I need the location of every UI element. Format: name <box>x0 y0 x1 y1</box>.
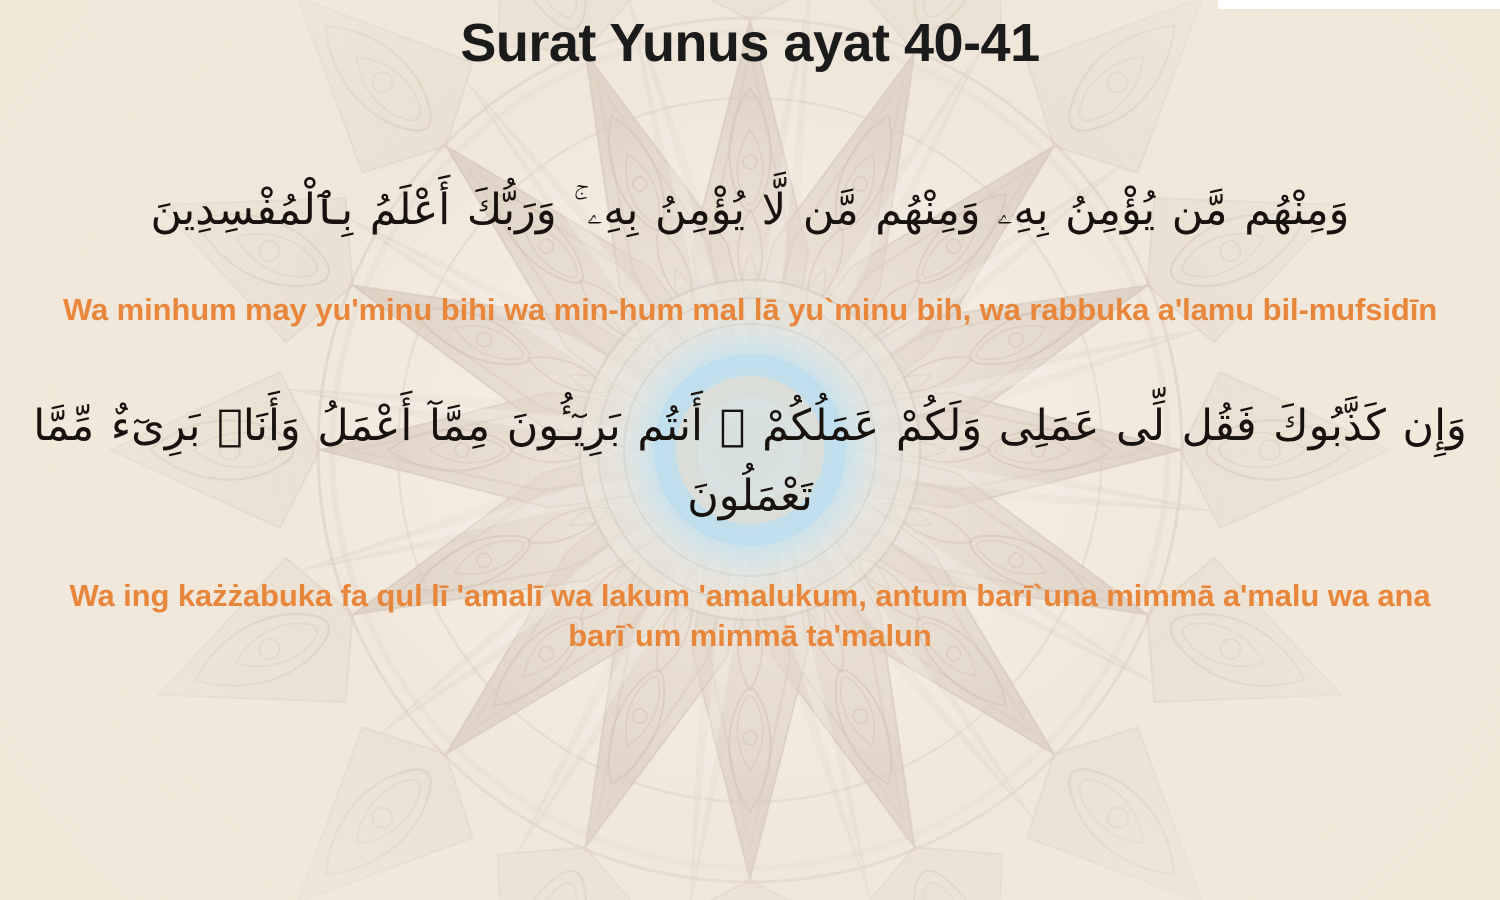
verse-content: Surat Yunus ayat 40-41 وَمِنْهُم مَّن يُ… <box>0 0 1500 900</box>
page-title: Surat Yunus ayat 40-41 <box>8 0 1492 72</box>
verse-block-41: وَإِن كَذَّبُوكَ فَقُل لِّى عَمَلِى وَلَ… <box>8 392 1492 656</box>
arabic-text-ayat-41: وَإِن كَذَّبُوكَ فَقُل لِّى عَمَلِى وَلَ… <box>8 392 1492 531</box>
quran-verse-card: Surat Yunus ayat 40-41 وَمِنْهُم مَّن يُ… <box>0 0 1500 900</box>
arabic-text-ayat-40: وَمِنْهُم مَّن يُؤْمِنُ بِهِۦ وَمِنْهُم … <box>8 176 1492 246</box>
verse-block-40: وَمِنْهُم مَّن يُؤْمِنُ بِهِۦ وَمِنْهُم … <box>8 176 1492 330</box>
transliteration-text-ayat-41: Wa ing każżabuka fa qul lī 'amalī wa lak… <box>8 576 1492 657</box>
transliteration-text-ayat-40: Wa minhum may yu'minu bihi wa min-hum ma… <box>8 290 1492 330</box>
